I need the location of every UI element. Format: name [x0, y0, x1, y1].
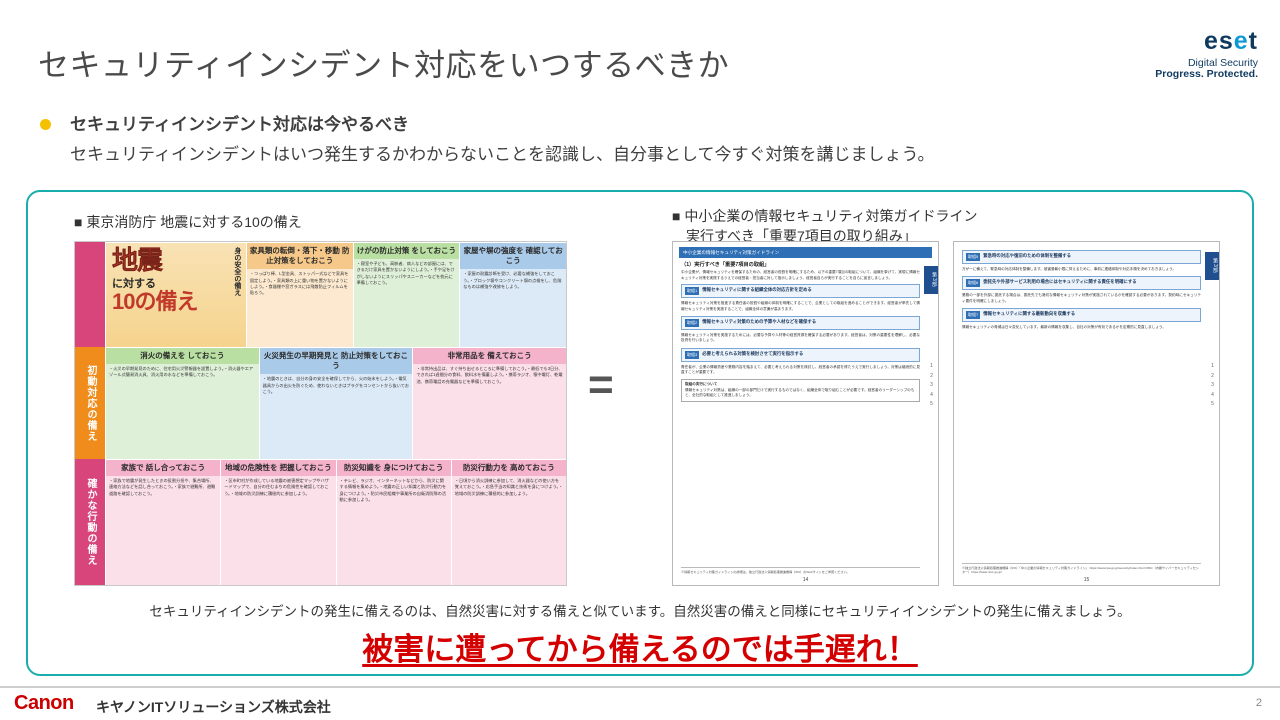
poster-cell-kagu-head: 家具類の転倒・落下・移動 防止対策をしておこう	[247, 243, 353, 269]
poster-cell-kagu: 家具類の転倒・落下・移動 防止対策をしておこう ・つっぱり棒、L型金具、ストッパ…	[246, 242, 353, 347]
left-column-heading: ■ 東京消防庁 地震に対する10の備え	[74, 212, 302, 232]
poster-cell-hijyo-head: 非常用品を 備えておこう	[413, 348, 566, 364]
guideline-item-2-body: 情報セキュリティ対策を実施するためには、必要な予算や人材等の経営資源を確保する必…	[681, 333, 920, 344]
guideline-item-7-text: 情報セキュリティに関する最新動向を収集する	[983, 311, 1075, 317]
poster-cell-kasai-body: ・地震のときは、自分の身の安全を確保してから、火の始末をしよう。・電気器具からの…	[260, 374, 413, 397]
poster-side-label-middle: 初動対応の備え	[75, 347, 105, 459]
poster-cell-hijyo: 非常用品を 備えておこう ・非常持出品は、すぐ持ち出せるところに準備しておこう。…	[412, 347, 566, 459]
guideline-tab-numbers-left: 12345	[926, 362, 937, 410]
bullet-dot-icon	[40, 119, 51, 130]
poster-cell-kagu-body: ・つっぱり棒、L型金具、ストッパー式などで家具を固定しよう。・家具類の上に重い物…	[247, 269, 353, 298]
bullet-body: セキュリティインシデントはいつ発生するかわからないことを認識し、自分事として今す…	[70, 140, 934, 165]
guideline-callout-box: 取組の実行について 情報セキュリティ対策は、組織の一部の部門だけで実行するもので…	[681, 379, 920, 401]
poster-row-1: 地震 に対する 10の備え 身の安全の備え 家具類の転倒・落下・移動 防止対策を…	[105, 242, 566, 347]
guideline-tab-left: 第3部	[924, 266, 938, 294]
panel-caption: セキュリティインシデントの発生に備えるのは、自然災害に対する備えと似ています。自…	[28, 600, 1252, 620]
poster-row-2: 消火の備えを しておこう ・火災の早期発見のために、住宅用火災警報器を設置しよう…	[105, 347, 566, 459]
panel-emphasis: 被害に遭ってから備えるのでは手遅れ！	[28, 624, 1252, 669]
guideline-page-15: 第3部 12345 取組5 緊急時の対応や復旧のための体制を整備する 万が一に備…	[953, 241, 1220, 586]
earthquake-poster: 地震 に対する 10の備え 身の安全の備え 家具類の転倒・落下・移動 防止対策を…	[74, 241, 567, 586]
guideline-item-1-body: 情報セキュリティ対策を推進する責任者の役割や組織の体制を明確にすることで、企業と…	[681, 301, 920, 312]
poster-side-label-bottom: 確かな行動の備え	[75, 459, 105, 585]
guideline-footnote-right: ※独立行政法人情報処理推進機構（IPA）「中小企業の情報セキュリティ対策ガイドラ…	[962, 563, 1201, 575]
poster-cell-kazoku-head: 家族で 話し合っておこう	[106, 460, 220, 476]
guideline-item-2-badge: 取組2	[685, 319, 699, 327]
guideline-item-7: 取組7 情報セキュリティに関する最新動向を収集する	[962, 308, 1201, 322]
guideline-pages: 中小企業の情報セキュリティ対策ガイドライン 第3部 12345 （1）実行すべき…	[672, 241, 1220, 586]
guideline-item-3-body: 責任者が、企業の情報資産や業務内容を踏まえて、必要と考えられる対策を検討し、経営…	[681, 365, 920, 376]
poster-cell-kega-body: ・寝室や子ども、高齢者、病人などの部屋には、できるだけ家具を置かないようにしよう…	[354, 259, 460, 288]
poster-cell-bosai-head: 防災知識を 身につけておこう	[337, 460, 451, 476]
guideline-callout-text: 情報セキュリティ対策は、組織の一部の部門だけで実行するものではなく、組織全体で取…	[685, 388, 916, 399]
guideline-item-6-body: 業務の一部を外部に委託する場合は、委託先でも適切な情報セキュリティ対策が実施され…	[962, 293, 1201, 304]
poster-cell-koudou-head: 防災行動力を 高めておこう	[452, 460, 566, 476]
poster-title-cell: 地震 に対する 10の備え 身の安全の備え	[105, 242, 246, 347]
poster-cell-chiiki: 地域の危険性を 把握しておこう ・区市町村が作成している地震の被害想定マップやハ…	[220, 459, 335, 585]
poster-cell-taishin: 家屋や塀の強度を 確認しておこう ・家屋の耐震診断を受け、必要な補強をしておこう…	[459, 242, 566, 347]
bullet-heading: セキュリティインシデント対応は今やるべき	[70, 110, 409, 135]
poster-cell-shoka: 消火の備えを しておこう ・火災の早期発見のために、住宅用火災警報器を設置しよう…	[105, 347, 259, 459]
eset-wordmark: eset	[1155, 28, 1258, 56]
guideline-item-7-body: 情報セキュリティの脅威は日々変化しています。最新の情報を収集し、自社の対策が有効…	[962, 325, 1201, 330]
guideline-item-5-body: 万が一に備えて、緊急時の対応体制を整備します。被害를最小限に抑えるために、事前に…	[962, 267, 1201, 272]
poster-cell-kega-head: けがの防止対策 をしておこう	[354, 243, 460, 259]
left-heading-text: ■ 東京消防庁 地震に対する10の備え	[74, 214, 302, 230]
guideline-tab-right: 第3部	[1205, 252, 1219, 280]
guideline-banner: 中小企業の情報セキュリティ対策ガイドライン	[679, 247, 932, 258]
poster-cell-shoka-body: ・火災の早期発見のために、住宅用火災警報器を設置しよう。・消火器やエアゾール式簡…	[106, 364, 259, 381]
guideline-tab-numbers-right: 12345	[1207, 362, 1218, 410]
poster-title-line1: 地震	[112, 248, 240, 273]
content-panel: ■ 東京消防庁 地震に対する10の備え ■ 中小企業の情報セキュリティ対策ガイド…	[26, 190, 1254, 676]
poster-cell-kasai-head: 火災発生の早期発見と 防止対策をしておこう	[260, 348, 413, 374]
guideline-item-5-text: 緊急時の対応や復旧のための体制を整備する	[983, 253, 1071, 259]
poster-cell-hijyo-body: ・非常持出品は、すぐ持ち出せるところに準備しておこう。・最低でも3日分、できれば…	[413, 364, 566, 387]
guideline-item-1-badge: 取組1	[685, 287, 699, 295]
guideline-item-1-text: 情報セキュリティに関する組織全体の対応方針を定める	[702, 287, 812, 293]
guideline-section-title: （1）実行すべき「重要7項目の取組」	[681, 261, 920, 268]
equals-sign: =	[588, 367, 614, 402]
guideline-pageno-left: 14	[673, 577, 938, 583]
right-heading-line1: ■ 中小企業の情報セキュリティ対策ガイドライン	[672, 206, 978, 226]
guideline-item-5-badge: 取組5	[966, 253, 980, 261]
poster-side-label-top	[75, 242, 105, 347]
guideline-item-1: 取組1 情報セキュリティに関する組織全体の対応方針を定める	[681, 284, 920, 298]
guideline-item-6: 取組6 委託先や外部サービス利用の場合にはセキュリティに関する責任を明確にする	[962, 276, 1201, 290]
guideline-item-2-text: 情報セキュリティ対策のための予算や人材などを確保する	[702, 319, 816, 325]
footer-company: キヤノンITソリューションズ株式会社	[96, 697, 331, 717]
slide: セキュリティインシデント対応をいつするべきか eset Digital Secu…	[0, 0, 1280, 720]
poster-row-3: 家族で 話し合っておこう ・家族で地震が発生したときの役割分担や、集合場所、連絡…	[105, 459, 566, 585]
footer-divider	[0, 686, 1280, 688]
guideline-item-2: 取組2 情報セキュリティ対策のための予算や人材などを確保する	[681, 316, 920, 330]
guideline-item-7-badge: 取組7	[966, 311, 980, 319]
guideline-page-14: 中小企業の情報セキュリティ対策ガイドライン 第3部 12345 （1）実行すべき…	[672, 241, 939, 586]
poster-cell-kasai: 火災発生の早期発見と 防止対策をしておこう ・地震のときは、自分の身の安全を確保…	[259, 347, 413, 459]
poster-cell-kega: けがの防止対策 をしておこう ・寝室や子ども、高齢者、病人などの部屋には、できる…	[353, 242, 460, 347]
eset-tagline-2: Progress. Protected.	[1155, 69, 1258, 81]
guideline-item-6-badge: 取組6	[966, 279, 980, 287]
guideline-item-5: 取組5 緊急時の対応や復旧のための体制を整備する	[962, 250, 1201, 264]
poster-cell-bosai: 防災知識を 身につけておこう ・テレビ、ラジオ、インターネットなどから、防災に関…	[336, 459, 451, 585]
guideline-item-6-text: 委託先や外部サービス利用の場合にはセキュリティに関する責任を明確にする	[983, 279, 1136, 285]
poster-cell-kazoku: 家族で 話し合っておこう ・家族で地震が発生したときの役割分担や、集合場所、連絡…	[105, 459, 220, 585]
guideline-item-3-text: 必要と考えられる対策を検討させて実行を指示する	[702, 351, 803, 357]
poster-cell-koudou-body: ・日頃から消火訓練に参加して、消火器などの使い方を覚えておこう。・応急手当の知識…	[452, 476, 566, 499]
eset-logo: eset Digital Security Progress. Protecte…	[1155, 28, 1258, 81]
guideline-footnote-left: ※情報セキュリティ対策ガイドラインの詳細は、独立行政法人情報処理推進機構（IPA…	[681, 567, 920, 575]
guideline-item-3-badge: 取組3	[685, 351, 699, 359]
poster-cell-chiiki-body: ・区市町村が作成している地震の被害想定マップやハザードマップで、自分の住むまちの…	[221, 476, 335, 499]
guideline-intro: 中小企業が、情報セキュリティを確保するための、経営者の役割を明確にするため、以下…	[681, 270, 920, 281]
poster-cell-koudou: 防災行動力を 高めておこう ・日頃から消火訓練に参加して、消火器などの使い方を覚…	[451, 459, 566, 585]
poster-cell-shoka-head: 消火の備えを しておこう	[106, 348, 259, 364]
poster-cell-taishin-head: 家屋や塀の強度を 確認しておこう	[460, 243, 566, 269]
guideline-item-3: 取組3 必要と考えられる対策を検討させて実行を指示する	[681, 348, 920, 362]
poster-cell-bosai-body: ・テレビ、ラジオ、インターネットなどから、防災に関する情報を集めよう。・地震の正…	[337, 476, 451, 505]
poster-cell-taishin-body: ・家屋の耐震診断を受け、必要な補強をしておこう。・ブロック塀やコンクリート塀の点…	[460, 269, 566, 292]
poster-title-side: 身の安全の備え	[232, 247, 242, 296]
page-title: セキュリティインシデント対応をいつするべきか	[38, 40, 729, 85]
canon-logo: Canon	[14, 692, 74, 715]
poster-cell-kazoku-body: ・家族で地震が発生したときの役割分担や、集合場所、連絡方法などを話し合っておこう…	[106, 476, 220, 499]
poster-title-line3: 10の備え	[112, 291, 240, 313]
page-number: 2	[1256, 697, 1262, 709]
guideline-pageno-right: 15	[954, 577, 1219, 583]
poster-cell-chiiki-head: 地域の危険性を 把握しておこう	[221, 460, 335, 476]
